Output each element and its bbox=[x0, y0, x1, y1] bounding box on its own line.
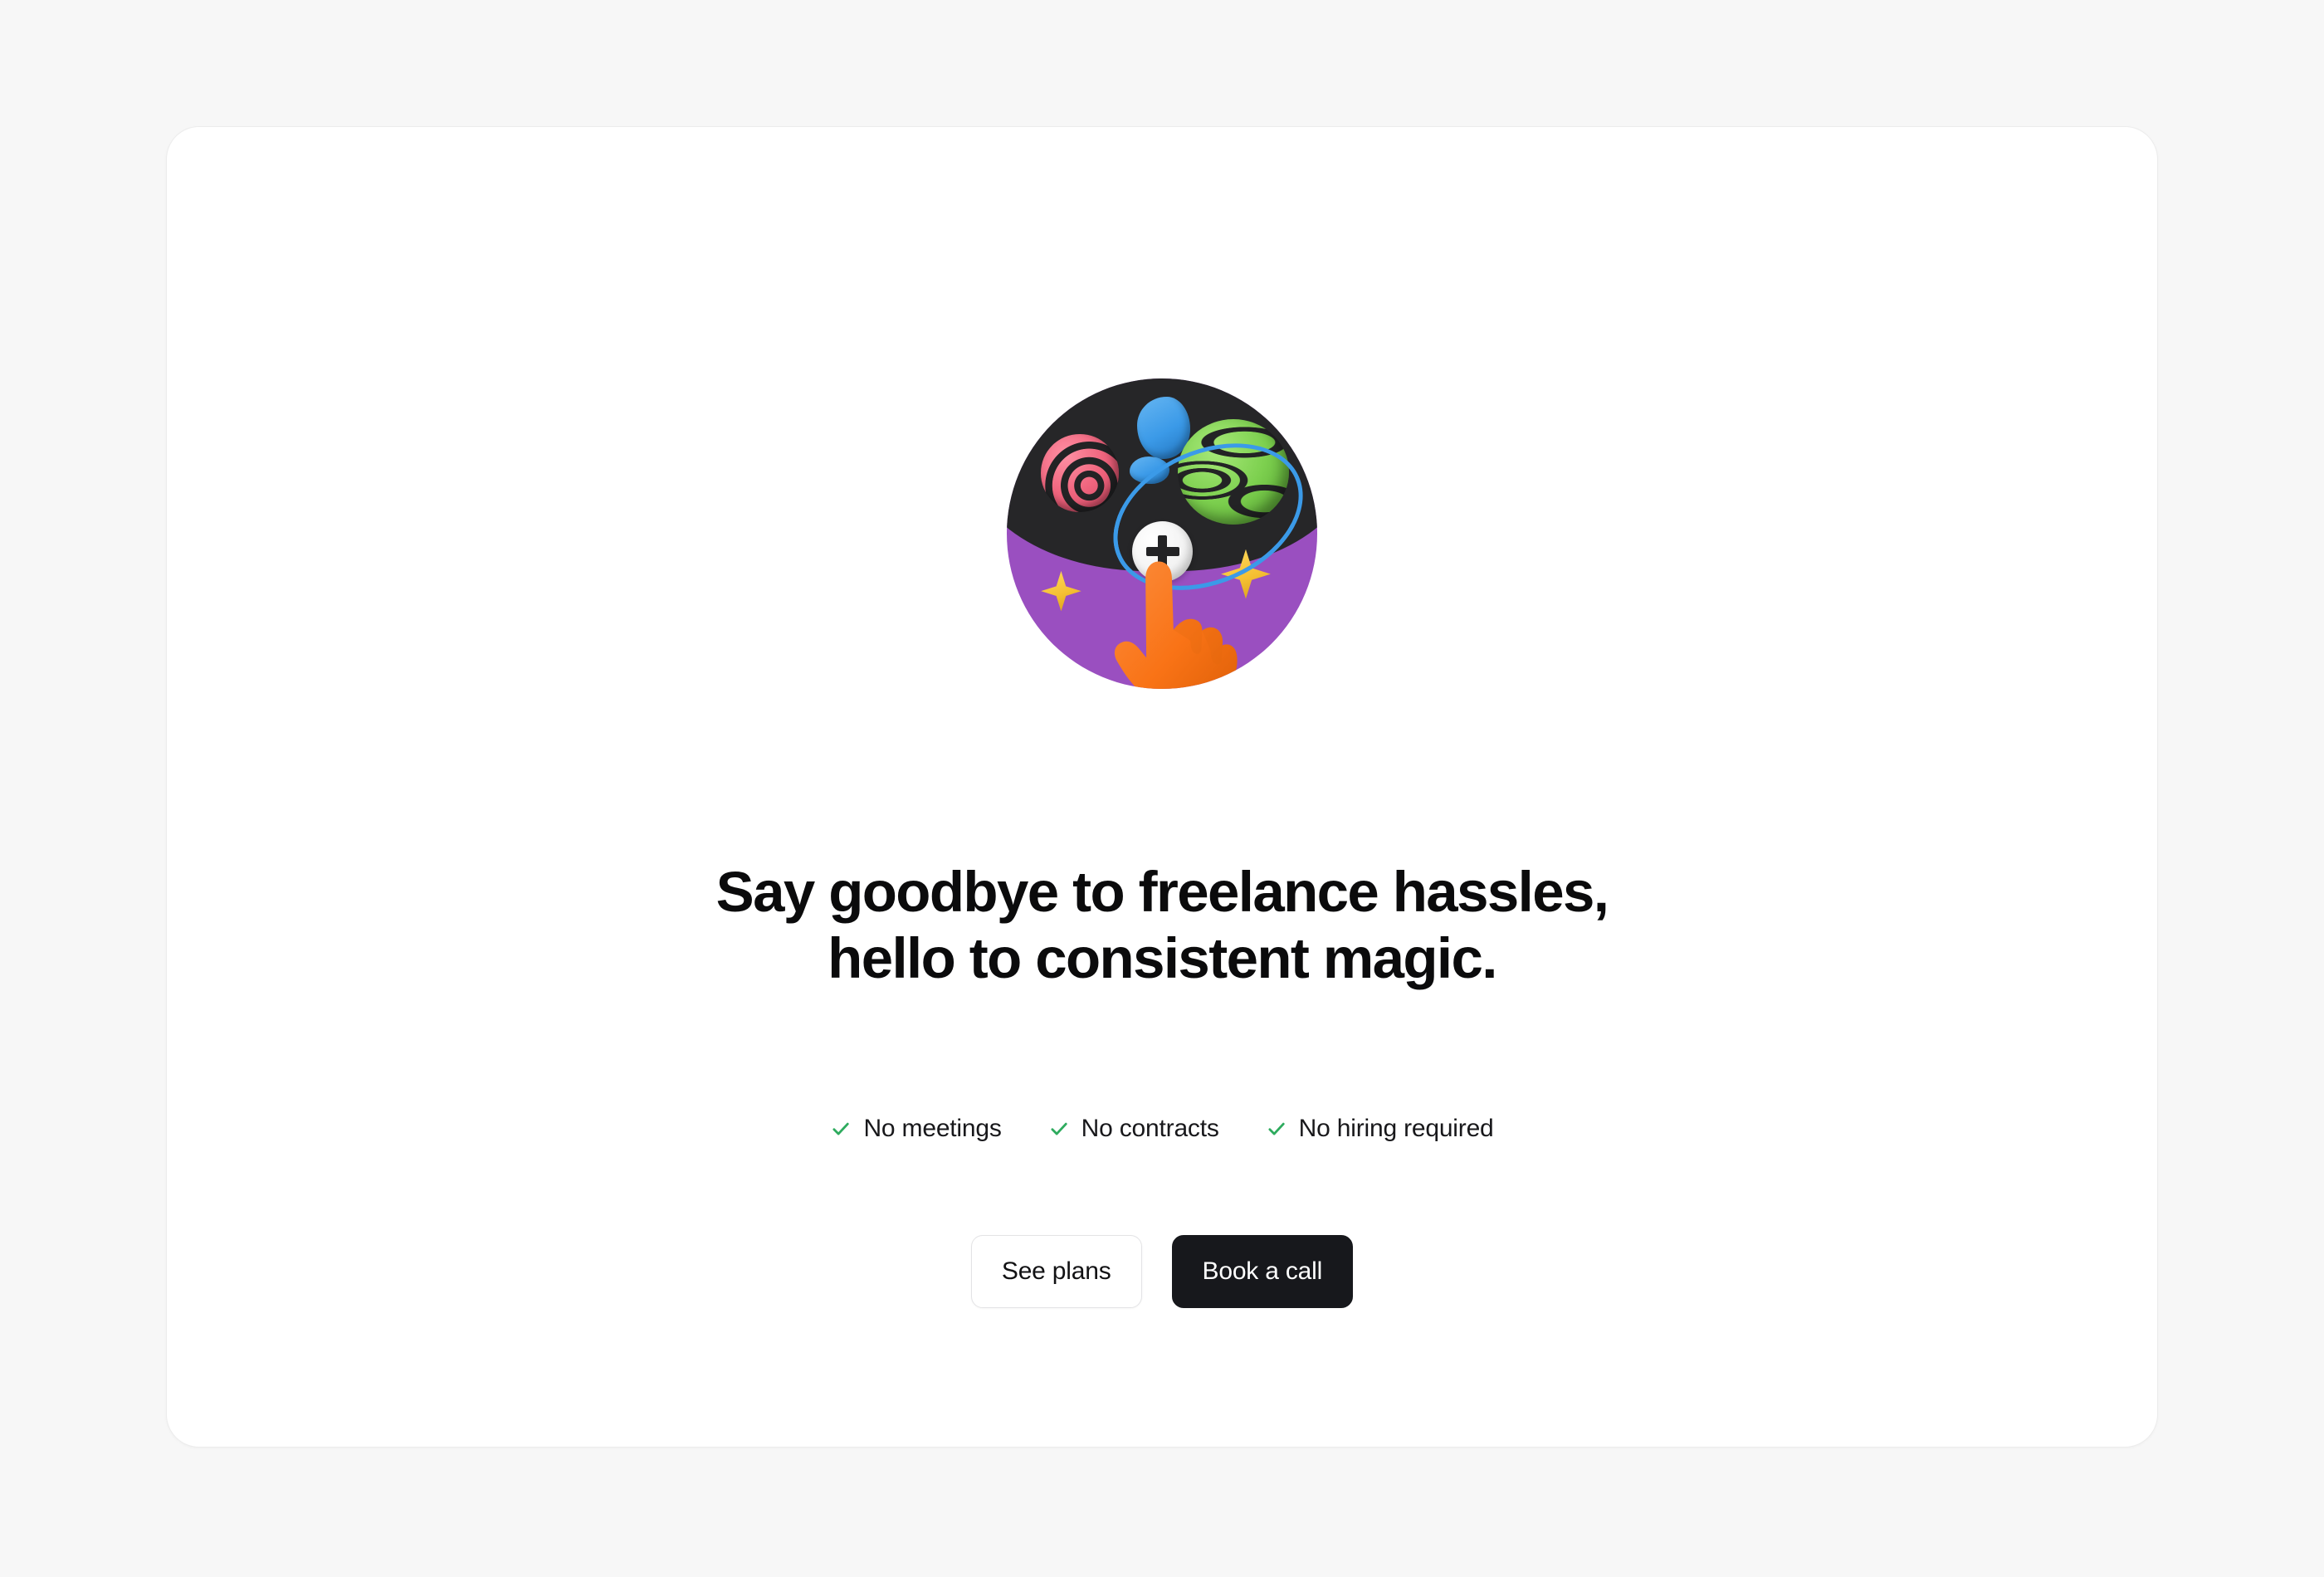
cta-button-row: See plans Book a call bbox=[167, 1235, 2157, 1308]
feature-item-no-meetings: No meetings bbox=[830, 1115, 1001, 1143]
feature-list: No meetings No contracts No hiring requi… bbox=[167, 1115, 2157, 1143]
hero-illustration bbox=[1007, 378, 1317, 689]
hero-card: Say goodbye to freelance hassles, hello … bbox=[166, 126, 2158, 1448]
check-icon bbox=[1266, 1118, 1287, 1140]
feature-label: No hiring required bbox=[1299, 1115, 1494, 1143]
check-icon bbox=[830, 1118, 852, 1140]
see-plans-button[interactable]: See plans bbox=[971, 1235, 1142, 1308]
feature-label: No contracts bbox=[1081, 1115, 1219, 1143]
pointing-hand-icon bbox=[1100, 555, 1255, 689]
feature-label: No meetings bbox=[863, 1115, 1001, 1143]
star-left-icon bbox=[1041, 571, 1081, 612]
feature-item-no-contracts: No contracts bbox=[1048, 1115, 1219, 1143]
feature-item-no-hiring-required: No hiring required bbox=[1266, 1115, 1494, 1143]
page-title: Say goodbye to freelance hassles, hello … bbox=[167, 859, 2157, 992]
check-icon bbox=[1048, 1118, 1070, 1140]
book-a-call-button[interactable]: Book a call bbox=[1172, 1235, 1354, 1308]
pink-striped-sphere-icon bbox=[1041, 434, 1119, 512]
